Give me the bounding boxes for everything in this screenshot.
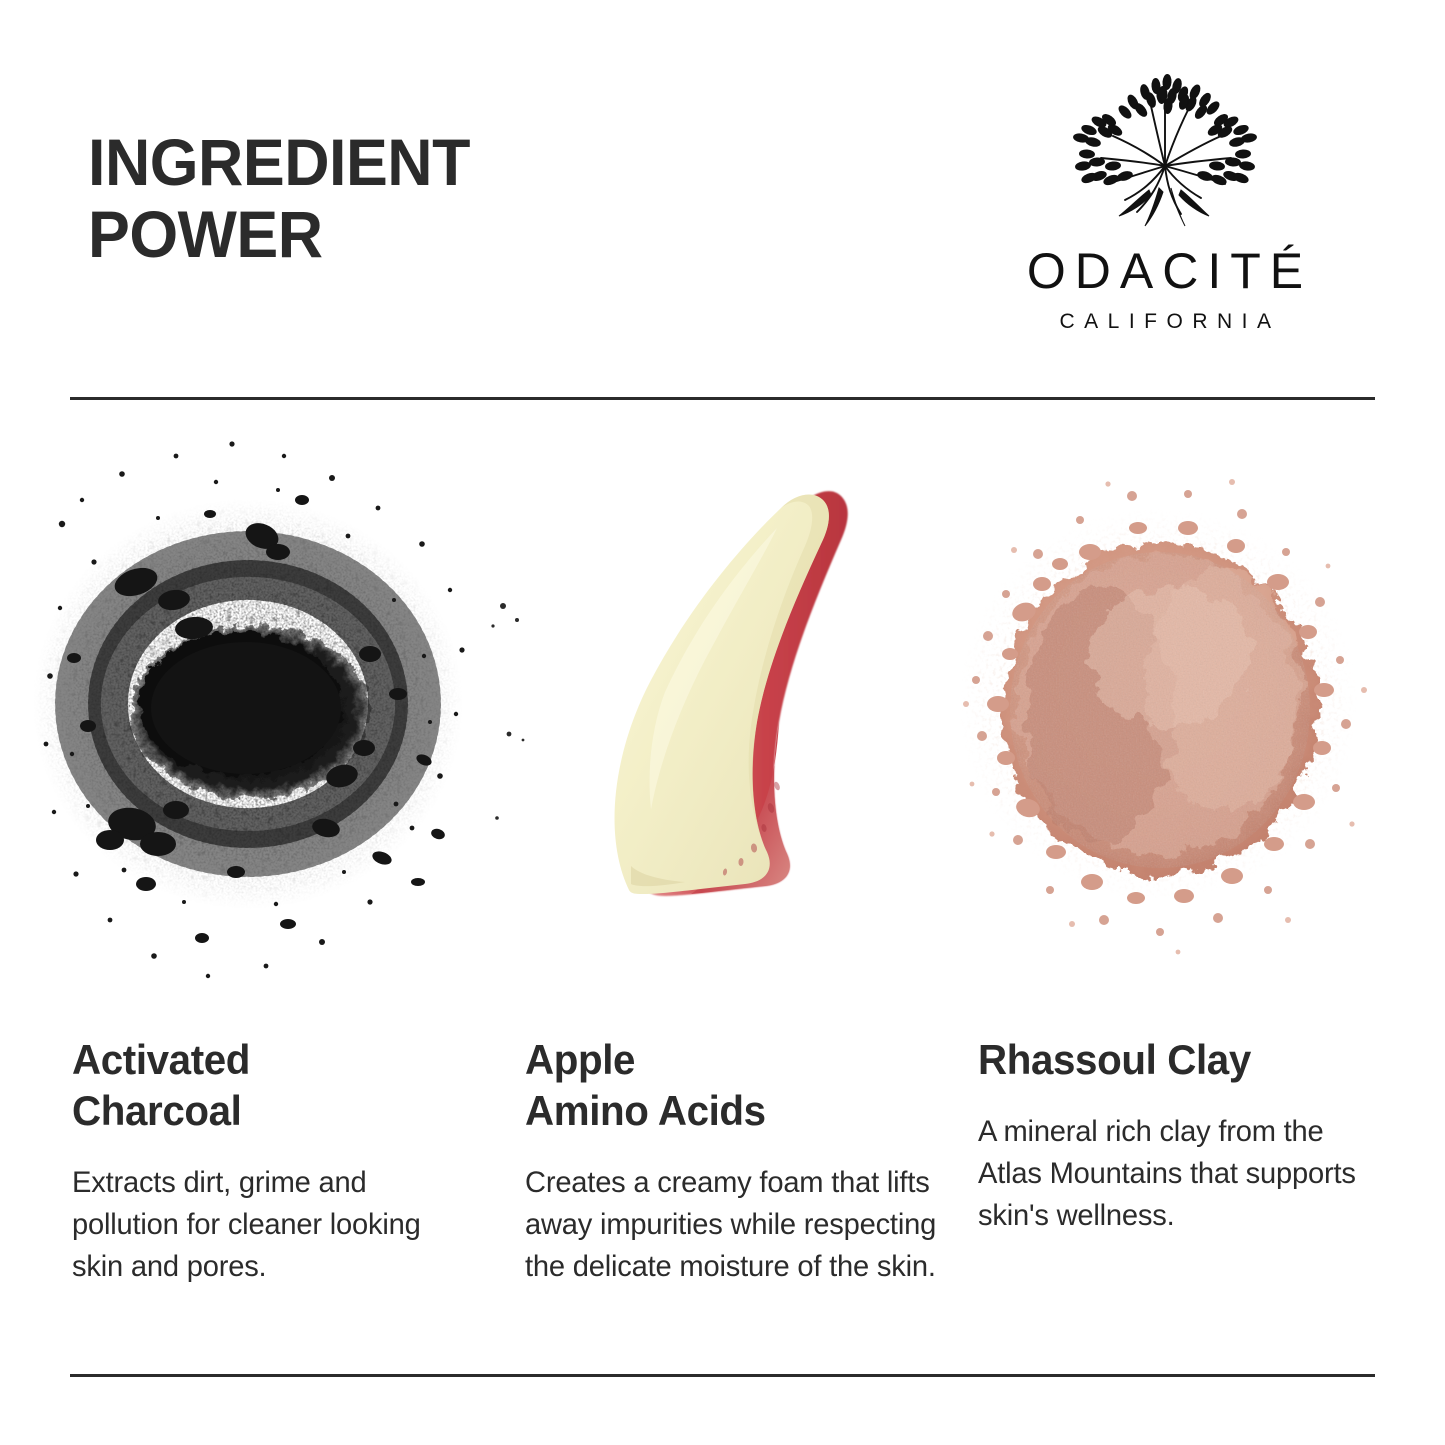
ingredient-title: Rhassoul Clay xyxy=(978,1034,1362,1085)
ingredient-description: Extracts dirt, grime and pollution for c… xyxy=(72,1162,460,1288)
ingredient-columns: Activated Charcoal Extracts dirt, grime … xyxy=(0,404,1445,1369)
page-title-line-2: POWER xyxy=(88,198,677,270)
ingredient-text-apple: Apple Amino Acids Creates a creamy foam … xyxy=(525,1034,925,1288)
ingredient-text-charcoal: Activated Charcoal Extracts dirt, grime … xyxy=(72,1034,472,1288)
ingredient-column-clay: Rhassoul Clay A mineral rich clay from t… xyxy=(932,404,1385,1369)
header: INGREDIENT POWER xyxy=(0,0,1445,398)
apple-slice-image xyxy=(479,404,932,1024)
rhassoul-clay-powder-image xyxy=(932,404,1385,1024)
brand-name: ODACITÉ xyxy=(955,242,1375,300)
ingredient-title-line-2: Charcoal xyxy=(72,1087,241,1134)
ingredient-text-clay: Rhassoul Clay A mineral rich clay from t… xyxy=(978,1034,1378,1237)
page-title-line-1: INGREDIENT xyxy=(88,126,677,198)
page-title: INGREDIENT POWER xyxy=(88,126,708,270)
dandelion-umbel-icon xyxy=(1055,58,1275,236)
ingredient-column-apple: Apple Amino Acids Creates a creamy foam … xyxy=(479,404,932,1369)
brand-location: CALIFORNIA xyxy=(955,310,1375,334)
divider-top xyxy=(70,397,1375,400)
ingredient-power-infographic: INGREDIENT POWER xyxy=(0,0,1445,1445)
brand-logo: ODACITÉ CALIFORNIA xyxy=(955,58,1375,334)
activated-charcoal-powder-image xyxy=(26,404,479,1024)
ingredient-title-line-1: Activated xyxy=(72,1036,250,1083)
ingredient-description: A mineral rich clay from the Atlas Mount… xyxy=(978,1111,1374,1237)
ingredient-column-charcoal: Activated Charcoal Extracts dirt, grime … xyxy=(26,404,479,1369)
ingredient-title: Apple Amino Acids xyxy=(525,1034,909,1136)
ingredient-title-line-1: Rhassoul Clay xyxy=(978,1036,1251,1083)
ingredient-description: Creates a creamy foam that lifts away im… xyxy=(525,1162,940,1288)
ingredient-title-line-2: Amino Acids xyxy=(525,1087,766,1134)
divider-bottom xyxy=(70,1374,1375,1377)
ingredient-title: Activated Charcoal xyxy=(72,1034,456,1136)
ingredient-title-line-1: Apple xyxy=(525,1036,635,1083)
